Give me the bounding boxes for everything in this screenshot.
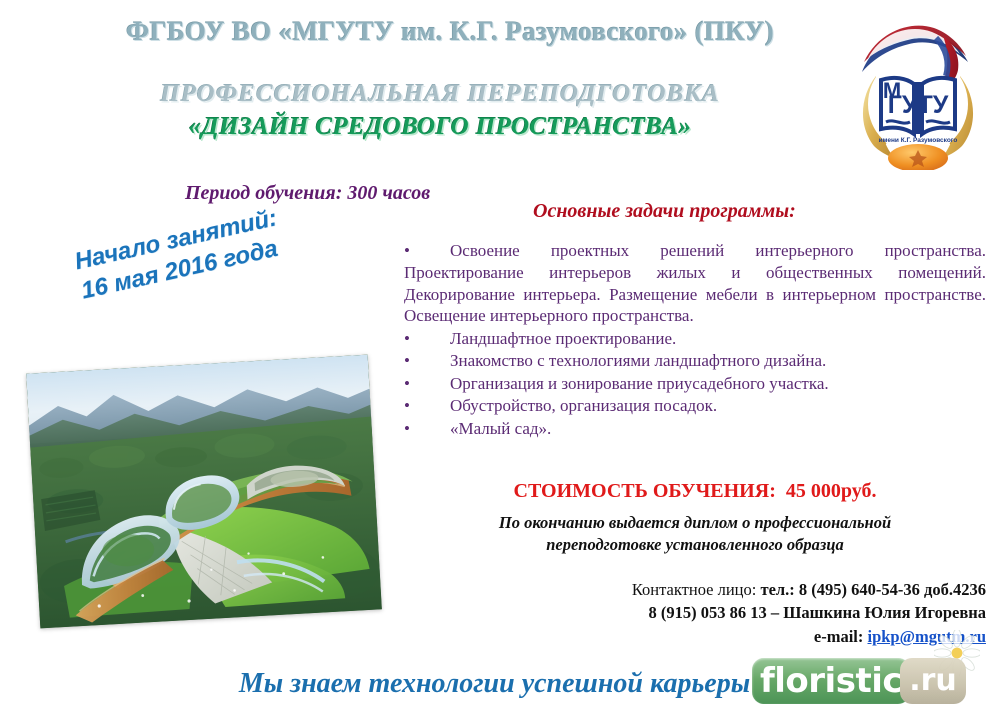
list-item-label: Ландшафтное проектирование. [450, 329, 676, 348]
tasks-list: •Освоение проектных решений интерьерного… [404, 240, 986, 440]
university-emblem-icon: ГУТУ М имени К.Г. Разумовского [848, 18, 988, 170]
study-period-text: Период обучения: 300 часов [185, 182, 430, 205]
bullet-glyph-icon: • [404, 350, 450, 372]
diploma-note-line2: переподготовке установленного образца [404, 534, 986, 556]
price-value: 45 000руб. [786, 480, 877, 502]
contact-phone-main: 8 (495) 640-54-36 доб.4236 [799, 580, 986, 599]
architecture-photo [26, 355, 382, 629]
svg-text:М: М [883, 78, 901, 103]
email-label: e-mail: [814, 627, 863, 646]
email-link[interactable]: ipkp@mgutm.ru [868, 627, 987, 646]
list-item: •«Малый сад». [404, 418, 986, 440]
contact-phone-label: тел. [760, 580, 789, 599]
list-item: •Ландшафтное проектирование. [404, 328, 986, 350]
tasks-title: Основные задачи программы: [533, 200, 796, 223]
diploma-note-line1: По окончанию выдается диплом о профессио… [404, 512, 986, 534]
list-item-label: «Малый сад». [450, 419, 551, 438]
price-line: СТОИМОСТЬ ОБУЧЕНИЯ: 45 000руб. [404, 480, 986, 503]
list-item-label: Обустройство, организация посадок. [450, 396, 717, 415]
tasks-paragraph-row: •Освоение проектных решений интерьерного… [404, 240, 986, 327]
contacts-block: Контактное лицо: тел.: 8 (495) 640-54-36… [404, 578, 986, 648]
contact-email-line: e-mail: ipkp@mgutm.ru [404, 625, 986, 648]
bullet-glyph-icon: • [404, 373, 450, 395]
bullet-glyph-icon: • [404, 395, 450, 417]
institution-title: ФГБОУ ВО «МГУТУ им. К.Г. Разумовского» (… [0, 16, 900, 47]
contact-person-line: Контактное лицо: тел.: 8 (495) 640-54-36… [404, 578, 986, 601]
start-date-block: Начало занятий: 16 мая 2016 года [72, 203, 286, 306]
svg-text:имени К.Г. Разумовского: имени К.Г. Разумовского [879, 137, 958, 144]
tasks-paragraph: Освоение проектных решений интерьерного … [404, 241, 986, 325]
price-separator: : [769, 480, 776, 502]
tasks-bullet-list: •Ландшафтное проектирование. •Знакомство… [404, 328, 986, 440]
list-item-label: Организация и зонирование приусадебного … [450, 374, 829, 393]
list-item: •Обустройство, организация посадок. [404, 395, 986, 417]
diploma-note: По окончанию выдается диплом о профессио… [404, 512, 986, 557]
price-label: СТОИМОСТЬ ОБУЧЕНИЯ [514, 480, 770, 502]
poster-root: ФГБОУ ВО «МГУТУ им. К.Г. Разумовского» (… [0, 0, 989, 715]
program-kind-title: ПРОФЕССИОНАЛЬНАЯ ПЕРЕПОДГОТОВКА [0, 80, 880, 108]
bullet-glyph-icon: • [404, 418, 450, 440]
program-name-title: «ДИЗАЙН СРЕДОВОГО ПРОСТРАНСТВА» [0, 113, 880, 141]
footer-tagline: Мы знаем технологии успешной карьеры [0, 668, 989, 700]
contact-mobile-line: 8 (915) 053 86 13 – Шашкина Юлия Игоревн… [404, 601, 986, 624]
bullet-glyph-icon: • [404, 328, 450, 350]
list-item-label: Знакомство с технологиями ландшафтного д… [450, 351, 826, 370]
list-item: •Организация и зонирование приусадебного… [404, 373, 986, 395]
list-item: •Знакомство с технологиями ландшафтного … [404, 350, 986, 372]
contact-person-label: Контактное лицо [632, 580, 752, 599]
contact-colon-2: : [789, 580, 799, 599]
bullet-glyph-icon: • [404, 240, 450, 262]
